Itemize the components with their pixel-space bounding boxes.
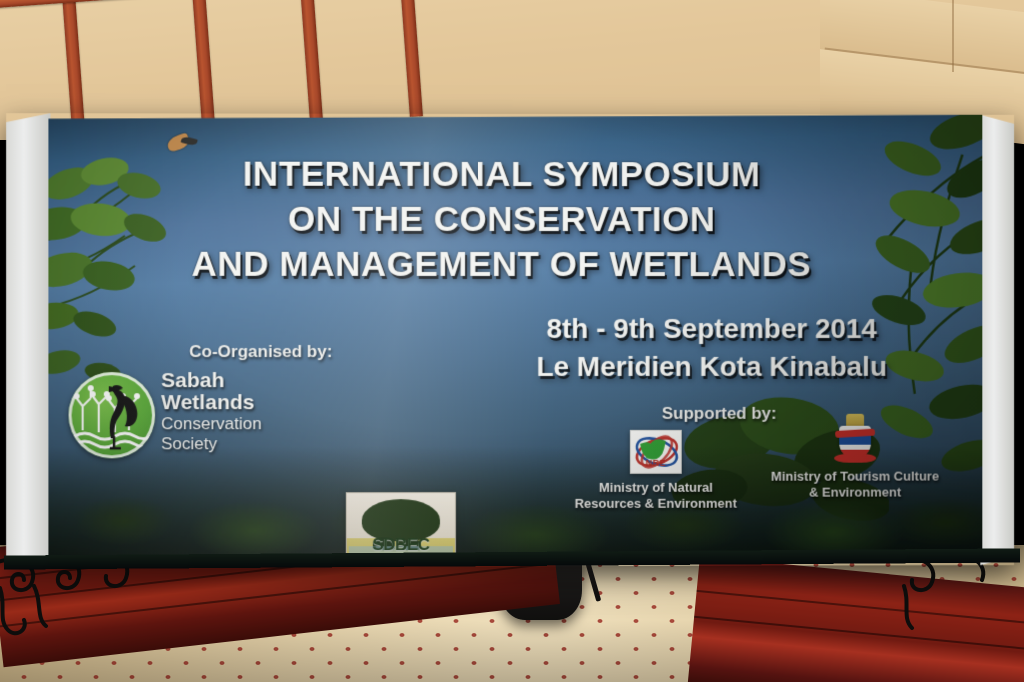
- nre-leaf-icon: NRE: [630, 430, 682, 474]
- swcs-name-line-2: Wetlands: [161, 392, 262, 414]
- banner-edge-left: [6, 113, 50, 567]
- tourism-caption-line-1: Ministry of Tourism Culture: [750, 469, 961, 485]
- banner-title-block: INTERNATIONAL SYMPOSIUM ON THE CONSERVAT…: [48, 151, 982, 287]
- title-line-3: AND MANAGEMENT OF WETLANDS: [48, 242, 952, 288]
- supporter-tourism-block: Ministry of Tourism Culture & Environmen…: [750, 414, 961, 501]
- photo-scene: INTERNATIONAL SYMPOSIUM ON THE CONSERVAT…: [0, 0, 1024, 682]
- banner-date-venue-block: 8th - 9th September 2014 Le Meridien Kot…: [536, 310, 887, 386]
- event-banner: INTERNATIONAL SYMPOSIUM ON THE CONSERVAT…: [6, 113, 1014, 567]
- title-line-1: INTERNATIONAL SYMPOSIUM: [48, 151, 952, 197]
- event-venue: Le Meridien Kota Kinabalu: [536, 348, 887, 386]
- lattice-mullion: [297, 0, 323, 124]
- heron-mangrove-circle-icon: [69, 372, 156, 458]
- supporter-nre-block: NRE Ministry of Natural Resources & Envi…: [568, 430, 744, 512]
- swcs-wordmark: Sabah Wetlands Conservation Society: [161, 370, 262, 454]
- swcs-logo-group: Sabah Wetlands Conservation Society: [69, 366, 320, 466]
- lattice-mullion: [189, 0, 215, 132]
- tourism-caption-line-2: & Environment: [750, 485, 961, 501]
- lattice-mullion: [397, 0, 423, 117]
- banner-printed-face: INTERNATIONAL SYMPOSIUM ON THE CONSERVAT…: [48, 113, 982, 567]
- event-date: 8th - 9th September 2014: [536, 310, 887, 348]
- crest-ribbon: [834, 454, 876, 463]
- co-organised-label: Co-Organised by:: [189, 342, 332, 362]
- swcs-name-line-1: Sabah: [161, 370, 262, 392]
- title-line-2: ON THE CONSERVATION: [48, 197, 952, 243]
- wall-panel-seam-vertical: [952, 0, 954, 72]
- banner-edge-right: [980, 115, 1014, 565]
- nre-caption-line-1: Ministry of Natural: [568, 480, 744, 496]
- nre-caption-line-2: Resources & Environment: [568, 496, 744, 512]
- sabah-state-crest-icon: [833, 414, 877, 464]
- nre-logo-text: NRE: [631, 458, 681, 468]
- swcs-name-line-4: Society: [161, 434, 262, 454]
- swcs-name-line-3: Conservation: [161, 414, 262, 434]
